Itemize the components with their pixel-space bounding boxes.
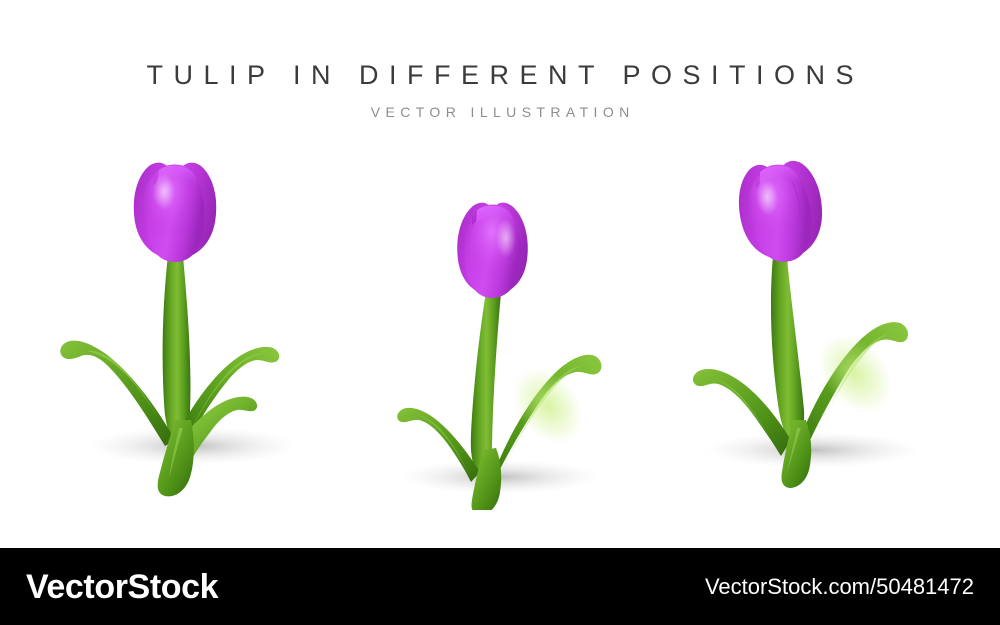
watermark-footer: VectorStock VectorStock.com/50481472: [0, 548, 1000, 625]
stem: [163, 255, 191, 442]
tulip-scene: [0, 140, 1000, 510]
illustration-canvas: TULIP IN DIFFERENT POSITIONS VECTOR ILLU…: [0, 0, 1000, 625]
flower-head: [457, 203, 528, 298]
petal-gloss: [143, 166, 199, 246]
stem: [771, 256, 804, 442]
petal-specular-dot: [153, 174, 175, 210]
tulip-figure-1: [25, 140, 325, 510]
ground-shadow: [705, 432, 921, 468]
flower-head: [134, 163, 216, 262]
tulip-figure-3: [645, 140, 945, 510]
flower-head: [734, 158, 828, 267]
brand-logo: VectorStock: [26, 570, 218, 604]
page-subtitle: VECTOR ILLUSTRATION: [0, 89, 1000, 119]
tulip-figure-2: [340, 140, 640, 510]
stem: [471, 292, 501, 474]
petal-specular-dot: [496, 218, 516, 258]
petal-gloss: [469, 208, 523, 288]
leaf-left: [60, 341, 175, 446]
asset-url-label: VectorStock.com/50481472: [705, 576, 974, 598]
page-title: TULIP IN DIFFERENT POSITIONS: [0, 0, 1000, 89]
header: TULIP IN DIFFERENT POSITIONS VECTOR ILLU…: [0, 0, 1000, 119]
